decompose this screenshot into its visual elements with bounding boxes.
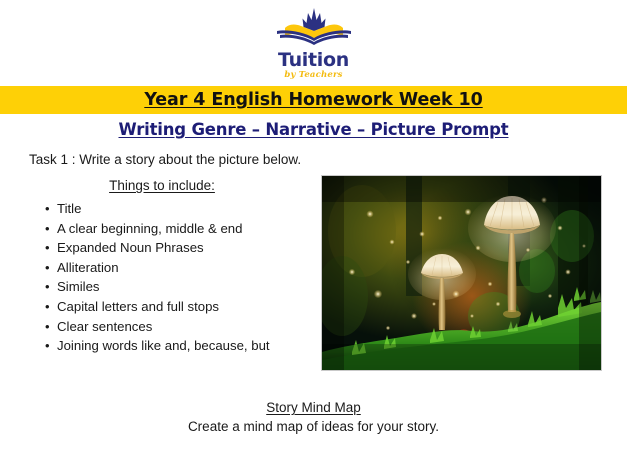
include-list: Title A clear beginning, middle & end Ex…: [0, 199, 318, 356]
mindmap-section: Story Mind Map Create a mind map of idea…: [0, 400, 627, 434]
subtitle: Writing Genre – Narrative – Picture Prom…: [0, 120, 627, 139]
list-item: A clear beginning, middle & end: [0, 219, 318, 239]
task-instruction: Task 1 : Write a story about the picture…: [29, 152, 301, 167]
picture-prompt-image: [322, 176, 601, 370]
list-item: Clear sentences: [0, 317, 318, 337]
worksheet-page: Tuition by Teachers Year 4 English Homew…: [0, 0, 627, 470]
include-heading: Things to include:: [0, 178, 318, 193]
list-item: Joining words like and, because, but: [0, 336, 318, 356]
list-item: Title: [0, 199, 318, 219]
list-item: Capital letters and full stops: [0, 297, 318, 317]
list-item: Similes: [0, 277, 318, 297]
logo-tagline: by Teachers: [284, 71, 342, 80]
mindmap-instruction: Create a mind map of ideas for your stor…: [0, 419, 627, 434]
page-title: Year 4 English Homework Week 10: [144, 90, 482, 110]
brand-logo: Tuition by Teachers: [0, 4, 627, 82]
include-section: Things to include: Title A clear beginni…: [0, 178, 318, 356]
title-banner: Year 4 English Homework Week 10: [0, 86, 627, 114]
open-book-icon: [271, 4, 357, 50]
list-item: Expanded Noun Phrases: [0, 238, 318, 258]
mushroom-forest-illustration: [322, 176, 601, 370]
list-item: Alliteration: [0, 258, 318, 278]
logo-wordmark: Tuition: [278, 51, 349, 70]
mindmap-title: Story Mind Map: [0, 400, 627, 415]
